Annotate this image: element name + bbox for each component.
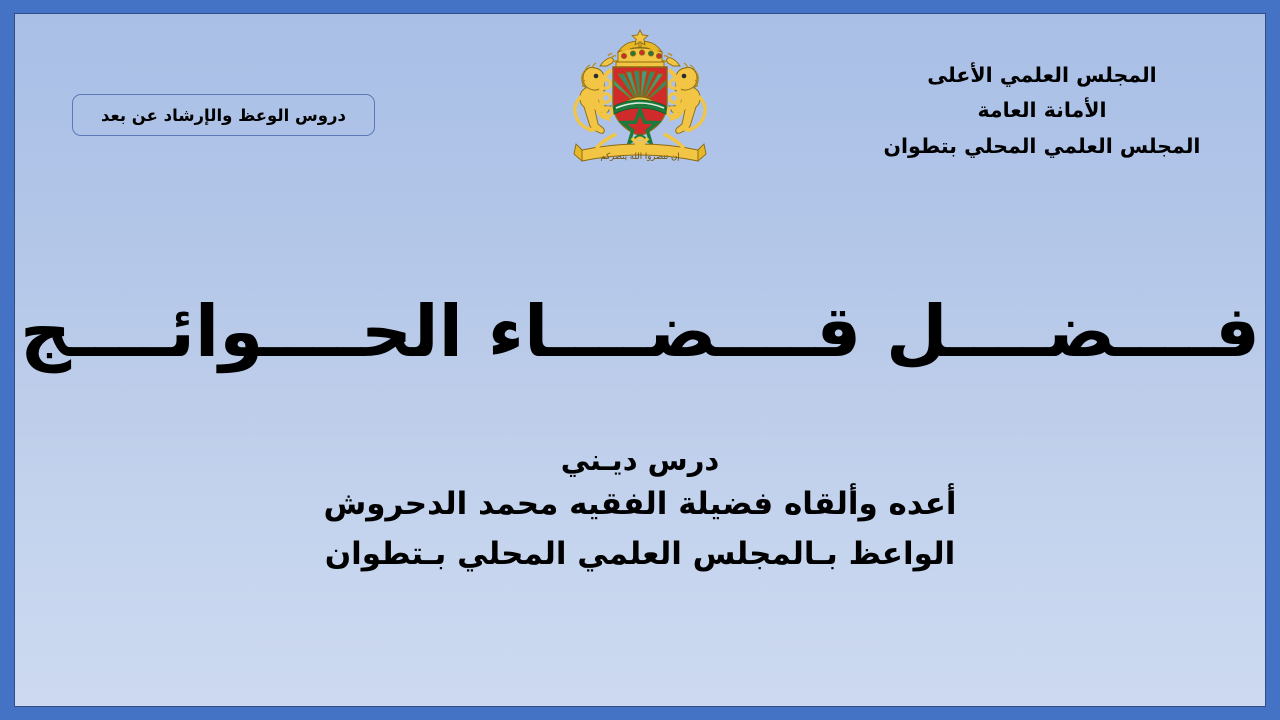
header-line-1: المجلس العلمي الأعلى [877,58,1207,93]
slide-canvas: دروس الوعظ والإرشاد عن بعد [14,13,1266,707]
author-label: أعده وألقاه فضيلة الفقيه محمد الدحروش [15,479,1265,529]
lesson-series-label[interactable]: دروس الوعظ والإرشاد عن بعد [72,94,375,136]
council-header: المجلس العلمي الأعلى الأمانة العامة المج… [877,58,1207,164]
page-title: فــــضــــل قــــضــــاء الحــــوائــــج [15,295,1265,370]
affiliation-label: الواعظ بـالمجلس العلمي المحلي بـتطوان [15,529,1265,579]
header-line-2: الأمانة العامة [877,93,1207,128]
moroccan-coat-of-arms-icon: إن تنصروا الله ينصركم [556,22,724,182]
emblem-motto-text: إن تنصروا الله ينصركم [600,152,679,162]
subtitle-block: درس ديـني أعده وألقاه فضيلة الفقيه محمد … [15,442,1265,580]
slide-frame: دروس الوعظ والإرشاد عن بعد [0,0,1280,720]
lesson-type-label: درس ديـني [15,442,1265,479]
header-line-3: المجلس العلمي المحلي بتطوان [877,129,1207,164]
